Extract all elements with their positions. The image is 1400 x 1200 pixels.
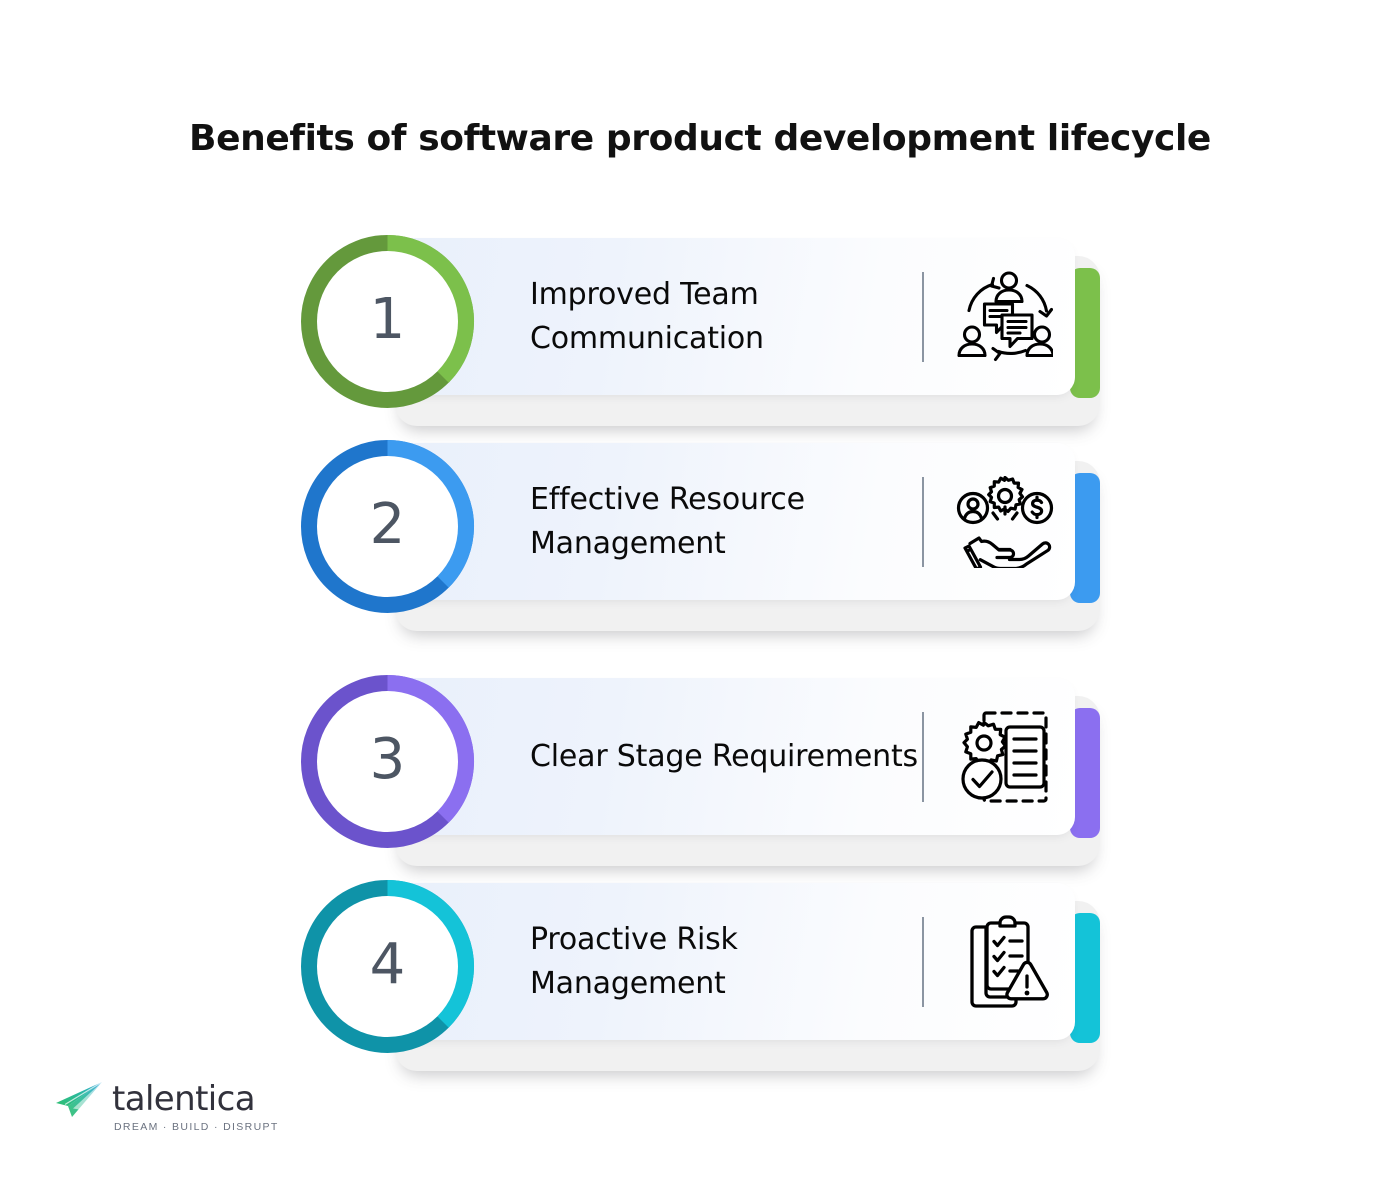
benefit-row[interactable]: Clear Stage Requirements (300, 678, 1100, 858)
benefit-card[interactable]: Proactive Risk Management (390, 883, 1075, 1040)
benefit-row[interactable]: Improved Team Communication (300, 238, 1100, 418)
card-divider (922, 477, 924, 567)
logo-wordmark: talentica (112, 1082, 255, 1116)
step-number: 1 (370, 292, 406, 352)
benefit-label: Proactive Risk Management (530, 917, 920, 1005)
logo-tagline: DREAM · BUILD · DISRUPT (114, 1122, 279, 1133)
card-divider (922, 917, 924, 1007)
benefit-card[interactable]: Effective Resource Management (390, 443, 1075, 600)
step-circle: 3 (300, 674, 475, 849)
benefit-row[interactable]: Effective Resource Management (300, 443, 1100, 623)
benefit-row[interactable]: Proactive Risk Management (300, 883, 1100, 1063)
risk-management-icon (955, 912, 1055, 1012)
benefit-label: Improved Team Communication (530, 272, 920, 360)
benefits-list: Improved Team Communication (0, 0, 1400, 1200)
card-divider (922, 272, 924, 362)
benefit-label: Clear Stage Requirements (530, 734, 920, 778)
benefit-card[interactable]: Clear Stage Requirements (390, 678, 1075, 835)
step-circle: 1 (300, 234, 475, 409)
step-number-container: 4 (317, 896, 458, 1037)
team-communication-icon (955, 267, 1055, 367)
card-divider (922, 712, 924, 802)
paper-plane-icon (52, 1080, 104, 1125)
step-number: 4 (370, 937, 406, 997)
talentica-logo[interactable]: talentica DREAM · BUILD · DISRUPT (52, 1076, 282, 1142)
benefit-label: Effective Resource Management (530, 477, 920, 565)
step-circle: 2 (300, 439, 475, 614)
step-number-container: 2 (317, 456, 458, 597)
step-number: 2 (370, 497, 406, 557)
step-number-container: 3 (317, 691, 458, 832)
step-number-container: 1 (317, 251, 458, 392)
step-circle: 4 (300, 879, 475, 1054)
benefit-card[interactable]: Improved Team Communication (390, 238, 1075, 395)
step-number: 3 (370, 732, 406, 792)
stage-requirements-icon (955, 707, 1055, 807)
resource-management-icon (955, 472, 1055, 572)
